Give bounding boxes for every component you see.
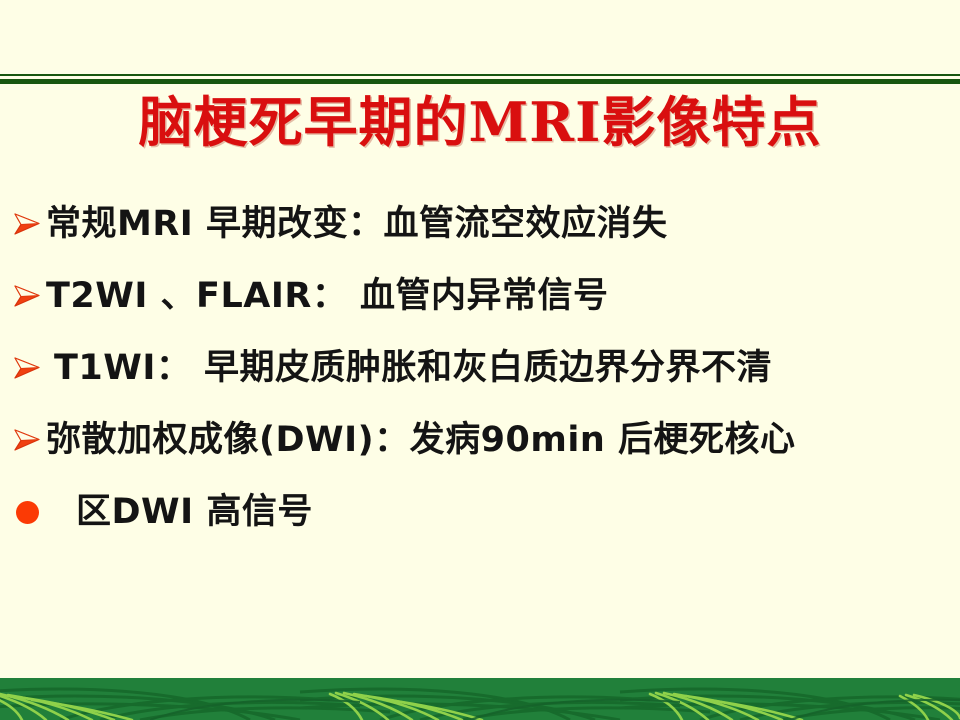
- arrow-bullet-icon: [12, 211, 46, 237]
- bullet-item-4: 弥散加权成像(DWI)：发病90min 后梗死核心: [0, 404, 960, 476]
- bullet-list: 常规MRI 早期改变：血管流空效应消失 T2WI 、FLAIR： 血管内异常信号…: [0, 188, 960, 548]
- presentation-slide: 脑梗死早期的MRI影像特点 常规MRI 早期改变：血管流空效应消失 T2WI 、…: [0, 0, 960, 720]
- arrow-bullet-icon: [12, 283, 46, 309]
- bullet-text: 常规MRI 早期改变：血管流空效应消失: [46, 205, 960, 244]
- arrow-bullet-icon: [12, 355, 46, 381]
- slide-title: 脑梗死早期的MRI影像特点: [0, 94, 960, 151]
- bullet-item-1: 常规MRI 早期改变：血管流空效应消失: [0, 188, 960, 260]
- bullet-text: T1WI： 早期皮质肿胀和灰白质边界分界不清: [46, 349, 960, 388]
- bullet-text: 弥散加权成像(DWI)：发病90min 后梗死核心: [46, 421, 960, 460]
- bullet-item-3: T1WI： 早期皮质肿胀和灰白质边界分界不清: [0, 332, 960, 404]
- bullet-text: T2WI 、FLAIR： 血管内异常信号: [46, 277, 960, 316]
- disc-bullet-icon: [12, 501, 46, 524]
- palm-leaf-band: [0, 678, 960, 720]
- header-divider: [0, 74, 960, 86]
- divider-rule-thick: [0, 79, 960, 84]
- bullet-item-5: 区DWI 高信号: [0, 476, 960, 548]
- arrow-bullet-icon: [12, 427, 46, 453]
- bullet-text: 区DWI 高信号: [46, 493, 960, 532]
- bullet-item-2: T2WI 、FLAIR： 血管内异常信号: [0, 260, 960, 332]
